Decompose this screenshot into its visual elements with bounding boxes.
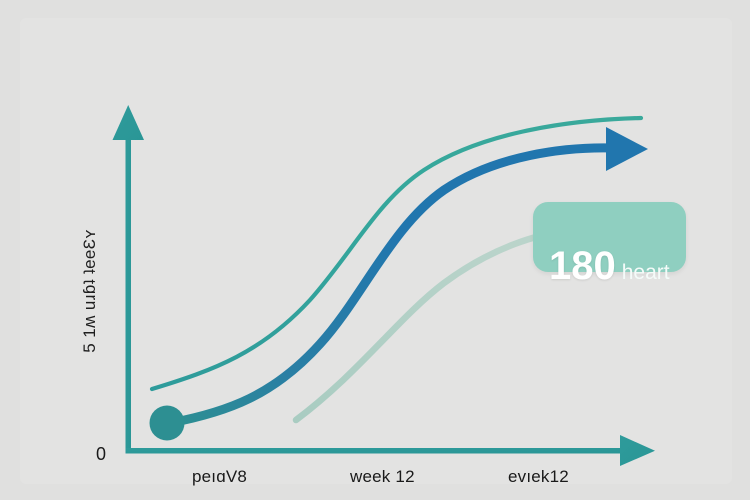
y-axis [113,105,145,453]
badge-value-text: 180 [549,246,616,286]
x-axis-arrowhead [620,435,655,466]
blue-main-curve [170,148,612,423]
x-axis-tick-label-0: peıɑV8 [192,467,247,487]
y-axis-zero-label: 0 [96,444,106,465]
chart-canvas: 5 1ʍ uɹɓʇ ʇeeƐʏ 0 peıɑV8 week 12 evıek12… [0,0,750,500]
x-axis-tick-label-1: week 12 [350,467,415,487]
x-axis [126,435,656,466]
start-dot-marker [150,406,185,441]
blue-curve-arrowhead [606,127,648,171]
x-axis-tick-label-2: evıek12 [508,467,569,487]
badge-unit-text: heart [622,261,670,285]
y-axis-title: 5 1ʍ uɹɓʇ ʇeeƐʏ [80,181,100,401]
y-axis-arrowhead [113,105,145,140]
value-badge[interactable]: 180 heart [533,202,686,272]
